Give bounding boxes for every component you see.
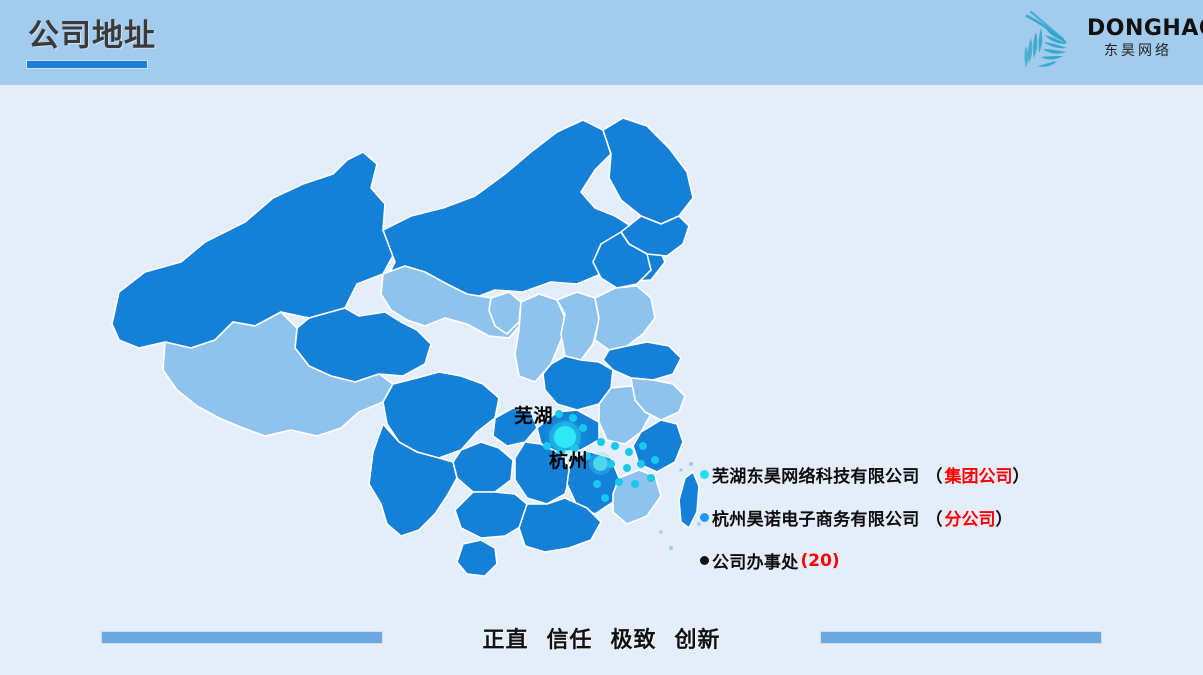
slide-header: 公司地址 — [0, 0, 1203, 85]
slogan-word-1: 正直 — [482, 628, 528, 653]
page-title: 公司地址 — [28, 17, 156, 55]
footer-slogan: 正直信任极致创新 — [0, 622, 1203, 654]
office-dot[interactable] — [631, 480, 639, 488]
legend-tag: 分公司 — [945, 505, 996, 530]
legend-label: 杭州昊诺电子商务有限公司 — [712, 505, 920, 530]
legend-bullet-icon — [700, 513, 709, 522]
office-dot[interactable] — [615, 478, 623, 486]
logo-chinese-name: 东昊网络 — [1087, 42, 1189, 61]
legend-paren-close: ） — [1013, 462, 1030, 487]
company-logo: DONGHAO 东昊网络 — [1019, 8, 1189, 74]
office-dot[interactable] — [593, 480, 601, 488]
legend-tag-count: (20) — [801, 551, 840, 571]
office-dot[interactable] — [611, 442, 619, 450]
slide-root: 公司地址 — [0, 0, 1203, 675]
office-dot[interactable] — [569, 414, 577, 422]
legend-paren-close: ） — [996, 505, 1013, 530]
office-dot[interactable] — [579, 424, 587, 432]
office-dot[interactable] — [601, 494, 609, 502]
slogan-word-2: 信任 — [546, 628, 592, 653]
china-map[interactable] — [95, 112, 705, 602]
office-dot[interactable] — [625, 448, 633, 456]
office-dot[interactable] — [623, 464, 631, 472]
legend-label: 芜湖东昊网络科技有限公司 — [712, 462, 920, 487]
legend-label: 公司办事处 — [712, 548, 799, 573]
office-dot[interactable] — [647, 474, 655, 482]
slogan-word-3: 极致 — [611, 628, 657, 653]
legend: 芜湖东昊网络科技有限公司 （ 集团公司 ） 杭州昊诺电子商务有限公司 （ 分公司… — [700, 462, 1170, 591]
legend-item-group-company[interactable]: 芜湖东昊网络科技有限公司 （ 集团公司 ） — [700, 462, 1170, 487]
title-underline — [26, 60, 148, 69]
legend-item-offices[interactable]: 公司办事处 (20) — [700, 548, 1170, 573]
map-label-hangzhou: 杭州 — [549, 446, 588, 473]
logo-text-block: DONGHAO 东昊网络 — [1087, 16, 1189, 61]
map-label-wuhu: 芜湖 — [514, 401, 553, 428]
logo-english-name: DONGHAO — [1087, 16, 1189, 41]
office-dot[interactable] — [637, 460, 645, 468]
map-marker-hangzhou[interactable] — [593, 456, 608, 471]
office-dot[interactable] — [597, 438, 605, 446]
legend-item-branch-company[interactable]: 杭州昊诺电子商务有限公司 （ 分公司 ） — [700, 505, 1170, 530]
legend-paren-open: （ — [920, 505, 943, 530]
office-dot[interactable] — [607, 460, 615, 468]
office-dot[interactable] — [555, 410, 563, 418]
slogan-word-4: 创新 — [675, 628, 721, 653]
legend-tag: 集团公司 — [945, 462, 1013, 487]
legend-paren-open: （ — [920, 462, 943, 487]
office-dot[interactable] — [651, 456, 659, 464]
legend-bullet-icon — [700, 470, 709, 479]
office-dot[interactable] — [639, 442, 647, 450]
legend-bullet-icon — [700, 556, 709, 565]
donghao-wing-logo-icon — [1019, 8, 1085, 72]
